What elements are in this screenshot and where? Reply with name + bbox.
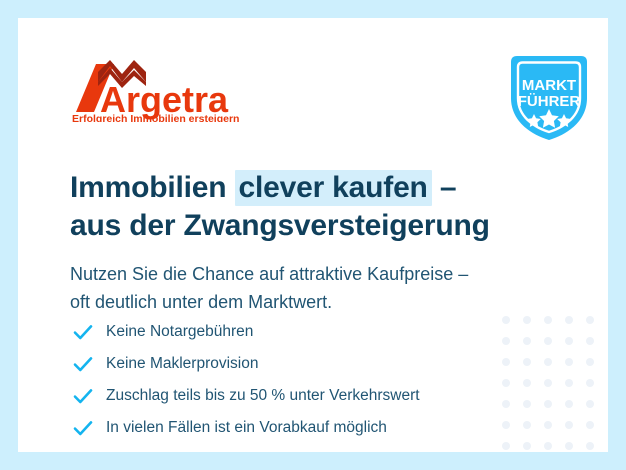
decorative-dot	[565, 337, 573, 345]
check-icon	[72, 385, 94, 407]
list-item: Zuschlag teils bis zu 50 % unter Verkehr…	[72, 380, 532, 412]
headline-highlight: clever kaufen	[235, 170, 432, 206]
banner-card: Argetra Erfolgreich Immobilien ersteiger…	[18, 18, 608, 452]
subheadline-line-1: Nutzen Sie die Chance auf attraktive Kau…	[70, 260, 550, 288]
decorative-dot	[565, 442, 573, 450]
benefit-label: Keine Maklerprovision	[106, 354, 259, 374]
decorative-dot	[565, 379, 573, 387]
decorative-dot	[586, 442, 594, 450]
list-item: In vielen Fällen ist ein Vorabkauf mögli…	[72, 412, 532, 444]
headline-prefix: Immobilien	[70, 171, 235, 204]
logo-tagline: Erfolgreich Immobilien ersteigern	[72, 113, 239, 122]
markt-fuehrer-badge: MARKT FÜHRER	[507, 54, 591, 142]
decorative-dot	[586, 400, 594, 408]
check-icon	[72, 321, 94, 343]
decorative-dot	[565, 421, 573, 429]
argetra-logo[interactable]: Argetra Erfolgreich Immobilien ersteiger…	[70, 60, 250, 122]
decorative-dot	[586, 421, 594, 429]
decorative-dot	[544, 442, 552, 450]
benefit-list: Keine NotargebührenKeine Maklerprovision…	[72, 316, 532, 444]
benefit-label: Zuschlag teils bis zu 50 % unter Verkehr…	[106, 386, 420, 406]
check-icon	[72, 417, 94, 439]
decorative-dot	[586, 316, 594, 324]
benefit-label: Keine Notargebühren	[106, 322, 253, 342]
check-icon	[72, 353, 94, 375]
badge-line-1: MARKT	[522, 77, 576, 94]
decorative-dot	[586, 379, 594, 387]
decorative-dot	[544, 379, 552, 387]
list-item: Keine Notargebühren	[72, 316, 532, 348]
subheadline: Nutzen Sie die Chance auf attraktive Kau…	[70, 260, 550, 316]
page-title: Immobilien clever kaufen – aus der Zwang…	[70, 169, 540, 245]
decorative-dot	[586, 358, 594, 366]
decorative-dot	[586, 337, 594, 345]
headline-line-1: Immobilien clever kaufen –	[70, 169, 540, 207]
list-item: Keine Maklerprovision	[72, 348, 532, 380]
decorative-dot	[544, 400, 552, 408]
decorative-dot	[565, 400, 573, 408]
decorative-dot	[565, 358, 573, 366]
decorative-dot	[544, 421, 552, 429]
subheadline-line-2: oft deutlich unter dem Marktwert.	[70, 288, 550, 316]
decorative-dot	[565, 316, 573, 324]
benefit-label: In vielen Fällen ist ein Vorabkauf mögli…	[106, 418, 387, 438]
decorative-dot	[544, 358, 552, 366]
badge-line-2: FÜHRER	[518, 93, 581, 110]
headline-line-2: aus der Zwangsversteigerung	[70, 207, 540, 245]
decorative-dot	[544, 337, 552, 345]
decorative-dot	[544, 316, 552, 324]
ad-banner: Argetra Erfolgreich Immobilien ersteiger…	[0, 0, 626, 470]
headline-suffix: –	[432, 171, 457, 204]
